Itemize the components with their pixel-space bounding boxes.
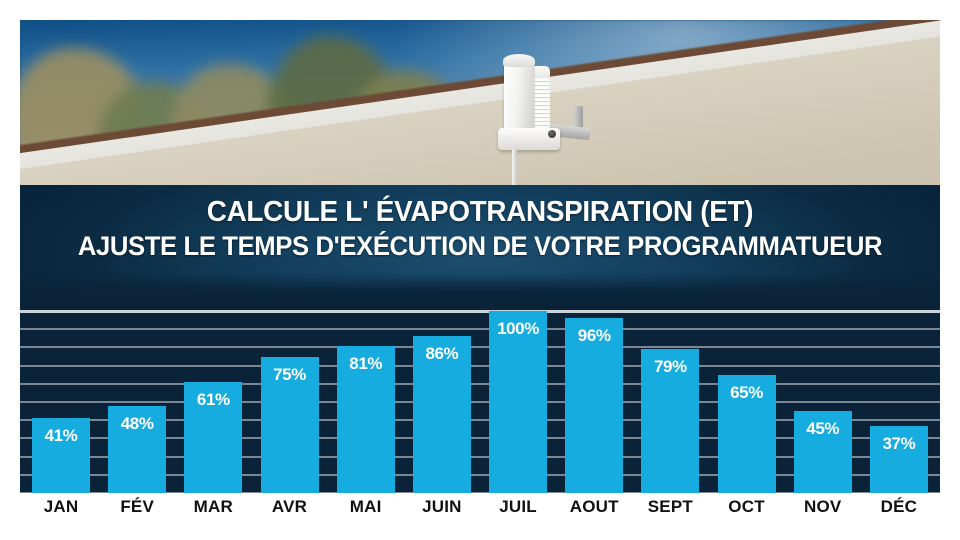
bar-slot[interactable]: 65% bbox=[718, 293, 776, 493]
bar-slot[interactable]: 41% bbox=[32, 293, 90, 493]
month-label-nov: NOV bbox=[794, 497, 852, 529]
month-label-juin: JUIN bbox=[413, 497, 471, 529]
bar-value-label: 75% bbox=[273, 365, 306, 385]
bar-value-label: 79% bbox=[654, 357, 687, 377]
bar-slot[interactable]: 86% bbox=[413, 293, 471, 493]
bar-value-label: 96% bbox=[578, 326, 611, 346]
bar-value-label: 37% bbox=[882, 434, 915, 454]
bar-juil[interactable]: 100% bbox=[489, 311, 547, 493]
bar-value-label: 41% bbox=[45, 426, 78, 446]
title-band: CALCULE L' ÉVAPOTRANSPIRATION (ET) AJUST… bbox=[20, 185, 940, 293]
infographic-root: CALCULE L' ÉVAPOTRANSPIRATION (ET) AJUST… bbox=[0, 0, 960, 540]
bar-slot[interactable]: 75% bbox=[261, 293, 319, 493]
bar-déc[interactable]: 37% bbox=[870, 426, 928, 493]
month-label-mar: MAR bbox=[184, 497, 242, 529]
bar-value-label: 81% bbox=[349, 354, 382, 374]
x-axis-month-labels: JANFÉVMARAVRMAIJUINJUILAOUTSEPTOCTNOVDÉC bbox=[32, 497, 928, 529]
bar-avr[interactable]: 75% bbox=[261, 357, 319, 494]
chart-plot-area: 41%48%61%75%81%86%100%96%79%65%45%37% bbox=[32, 293, 928, 493]
bar-mai[interactable]: 81% bbox=[337, 346, 395, 493]
sensor-cap bbox=[503, 54, 535, 67]
bar-value-label: 61% bbox=[197, 390, 230, 410]
roof-sensor-photo bbox=[20, 20, 940, 185]
month-label-juil: JUIL bbox=[489, 497, 547, 529]
bar-aout[interactable]: 96% bbox=[565, 318, 623, 493]
bar-mar[interactable]: 61% bbox=[184, 382, 242, 493]
month-label-jan: JAN bbox=[32, 497, 90, 529]
title-wrapper: CALCULE L' ÉVAPOTRANSPIRATION (ET) AJUST… bbox=[20, 185, 940, 263]
page-subtitle: AJUSTE LE TEMPS D'EXÉCUTION DE VOTRE PRO… bbox=[43, 231, 917, 262]
page-title: CALCULE L' ÉVAPOTRANSPIRATION (ET) bbox=[38, 196, 921, 228]
month-label-mai: MAI bbox=[337, 497, 395, 529]
bar-slot[interactable]: 61% bbox=[184, 293, 242, 493]
month-label-avr: AVR bbox=[261, 497, 319, 529]
bar-slot[interactable]: 48% bbox=[108, 293, 166, 493]
month-label-sept: SEPT bbox=[641, 497, 699, 529]
bar-value-label: 48% bbox=[121, 414, 154, 434]
bar-sept[interactable]: 79% bbox=[641, 349, 699, 493]
bar-value-label: 45% bbox=[806, 419, 839, 439]
bar-fév[interactable]: 48% bbox=[108, 406, 166, 493]
bar-juin[interactable]: 86% bbox=[413, 336, 471, 493]
bar-value-label: 100% bbox=[497, 319, 539, 339]
bar-slot[interactable]: 37% bbox=[870, 293, 928, 493]
et-weather-sensor-icon bbox=[486, 44, 586, 185]
sensor-probe bbox=[512, 148, 517, 185]
month-label-fév: FÉV bbox=[108, 497, 166, 529]
bar-jan[interactable]: 41% bbox=[32, 418, 90, 493]
bar-slot[interactable]: 81% bbox=[337, 293, 395, 493]
sensor-screw bbox=[548, 130, 556, 138]
month-label-déc: DÉC bbox=[870, 497, 928, 529]
bar-oct[interactable]: 65% bbox=[718, 375, 776, 493]
bar-nov[interactable]: 45% bbox=[794, 411, 852, 493]
bar-value-label: 65% bbox=[730, 383, 763, 403]
month-label-aout: AOUT bbox=[565, 497, 623, 529]
bar-slot[interactable]: 96% bbox=[565, 293, 623, 493]
monthly-et-bar-chart: 41%48%61%75%81%86%100%96%79%65%45%37% bbox=[20, 293, 940, 493]
bar-value-label: 86% bbox=[425, 344, 458, 364]
month-label-oct: OCT bbox=[718, 497, 776, 529]
bar-slot[interactable]: 100% bbox=[489, 293, 547, 493]
bar-slot[interactable]: 45% bbox=[794, 293, 852, 493]
bar-slot[interactable]: 79% bbox=[641, 293, 699, 493]
